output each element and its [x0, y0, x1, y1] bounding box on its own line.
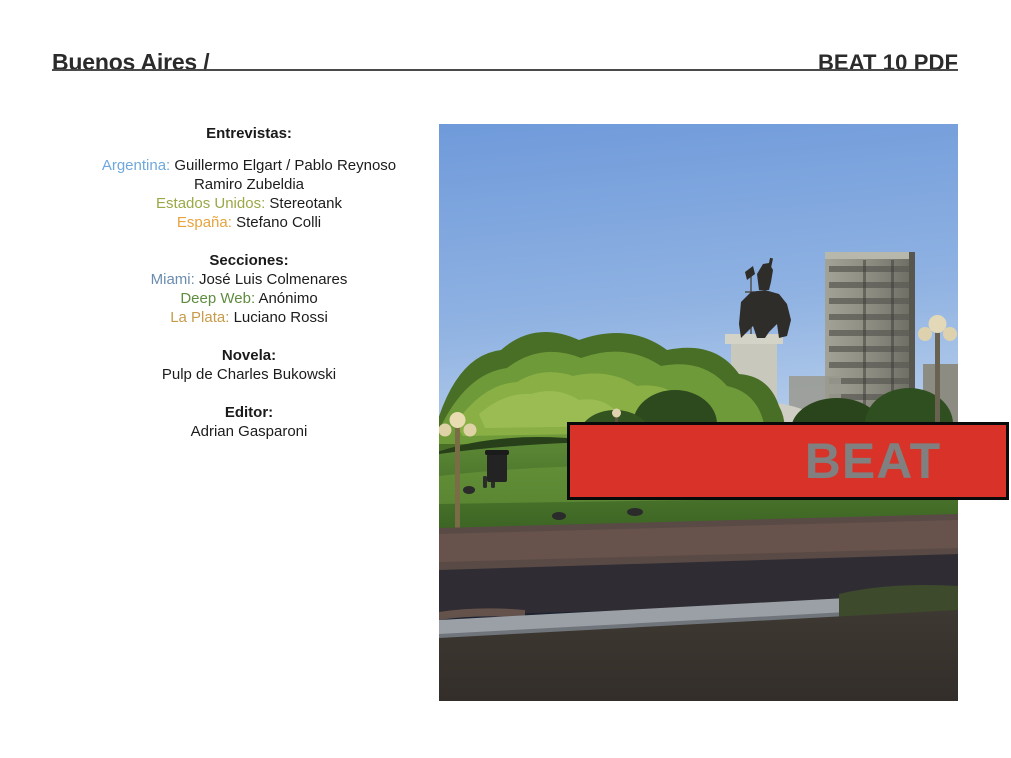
credit-value: Ramiro Zubeldia [194, 176, 304, 193]
credit-value: Stefano Colli [236, 214, 321, 231]
credit-line: Deep Web: Anónimo [52, 289, 446, 308]
credit-value: José Luis Colmenares [199, 271, 347, 288]
credit-value: Pulp de Charles Bukowski [162, 366, 336, 383]
credit-tag: Miami: [151, 271, 199, 288]
credits-sections-block: Secciones: Miami: José Luis Colmenares D… [52, 251, 446, 327]
credits-novel-list: Pulp de Charles Bukowski [52, 365, 446, 384]
credit-tag: Argentina: [102, 157, 175, 174]
credits-sections-heading: Secciones: [52, 251, 446, 270]
credits-interviews-block: Entrevistas: Argentina: Guillermo Elgart… [52, 124, 446, 232]
credits-column: Entrevistas: Argentina: Guillermo Elgart… [52, 124, 446, 441]
credits-editor-block: Editor: Adrian Gasparoni [52, 403, 446, 441]
beat-banner: BEAT [567, 422, 1009, 500]
credit-line: España: Stefano Colli [52, 213, 446, 232]
credit-value: Anónimo [258, 290, 317, 307]
spacer [52, 384, 446, 403]
credit-value: Stereotank [269, 195, 342, 212]
credits-editor-heading: Editor: [52, 403, 446, 422]
credit-line: Miami: José Luis Colmenares [52, 270, 446, 289]
credits-novel-block: Novela: Pulp de Charles Bukowski [52, 346, 446, 384]
credit-line: Estados Unidos: Stereotank [52, 194, 446, 213]
credit-tag: Deep Web: [180, 290, 258, 307]
credits-interviews-list: Argentina: Guillermo Elgart / Pablo Reyn… [52, 156, 446, 232]
credits-interviews-heading: Entrevistas: [52, 124, 446, 143]
header-divider [52, 69, 958, 71]
beat-banner-label: BEAT [805, 436, 941, 486]
credits-editor-list: Adrian Gasparoni [52, 422, 446, 441]
spacer [52, 143, 446, 156]
credit-line: Adrian Gasparoni [52, 422, 446, 441]
credit-value: Guillermo Elgart / Pablo Reynoso [174, 157, 396, 174]
spacer [52, 232, 446, 251]
spacer [52, 327, 446, 346]
credits-novel-heading: Novela: [52, 346, 446, 365]
credit-value: Luciano Rossi [234, 309, 328, 326]
credit-line: Pulp de Charles Bukowski [52, 365, 446, 384]
cover-photo [439, 124, 958, 701]
cover-photo-illustration [439, 124, 958, 701]
credit-value: Adrian Gasparoni [191, 423, 308, 440]
credit-tag: Estados Unidos: [156, 195, 269, 212]
credits-sections-list: Miami: José Luis Colmenares Deep Web: An… [52, 270, 446, 327]
credit-line: Ramiro Zubeldia [52, 175, 446, 194]
credit-tag: La Plata: [170, 309, 233, 326]
credit-tag: España: [177, 214, 236, 231]
credit-line: La Plata: Luciano Rossi [52, 308, 446, 327]
trash-bin [485, 450, 509, 482]
credit-line: Argentina: Guillermo Elgart / Pablo Reyn… [52, 156, 446, 175]
